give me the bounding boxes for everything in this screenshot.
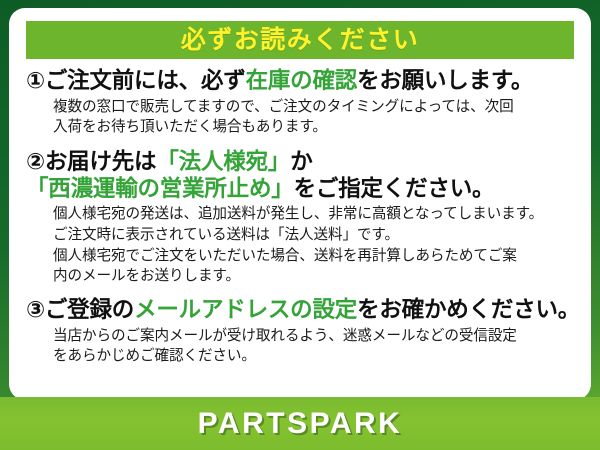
notice-frame: 必ずお読みください ①ご注文前には、必ず在庫の確認をお願いします。 複数の窓口で… [0, 0, 600, 450]
notice-item-list: ①ご注文前には、必ず在庫の確認をお願いします。 複数の窓口で販売してますので、ご… [26, 68, 574, 367]
notice-item-1: ①ご注文前には、必ず在庫の確認をお願いします。 複数の窓口で販売してますので、ご… [26, 68, 574, 138]
page-title: 必ずお読みください [181, 28, 420, 53]
item-2-body-line-4: 内のメールをお送りします。 [53, 266, 574, 287]
item-3-body-line-2: をあらかじめご確認ください。 [53, 346, 574, 367]
item-1-heading-highlight: 在庫の確認 [246, 68, 358, 93]
item-2-heading-highlight-2: 「西濃運輸の営業所止め」 [26, 176, 294, 201]
notice-item-2-heading: ②お届け先は「法人様宛」か「西濃運輸の営業所止め」をご指定ください。 [26, 149, 574, 202]
item-3-heading-text-after: をお確かめください。 [357, 297, 580, 322]
item-3-body-line-1: 当店からのご案内メールが受け取れるよう、迷惑メールなどの受信設定 [53, 326, 574, 347]
item-3-heading-text-before: ご登録の [45, 297, 134, 322]
notice-item-3: ③ご登録のメールアドレスの設定をお確かめください。 当店からのご案内メールが受け… [26, 297, 574, 367]
item-2-body-line-1: 個人様宅宛の発送は、追加送料が発生し、非常に高額となってしまいます。 [53, 204, 574, 225]
item-2-body-line-3: 個人様宅宛でご注文をいただいた場合、送料を再計算しあらためてご案 [53, 246, 574, 267]
item-2-heading-text-mid: か [290, 149, 312, 174]
item-1-heading-text-after: をお願いします。 [357, 68, 533, 93]
item-2-body-line-2: ご注文時に表示されている送料は「法人送料」です。 [53, 225, 574, 246]
notice-item-2: ②お届け先は「法人様宛」か「西濃運輸の営業所止め」をご指定ください。 個人様宅宛… [26, 149, 574, 287]
notice-panel: 必ずお読みください ①ご注文前には、必ず在庫の確認をお願いします。 複数の窓口で… [9, 8, 591, 400]
notice-item-3-heading: ③ご登録のメールアドレスの設定をお確かめください。 [26, 297, 574, 324]
item-marker-2: ② [26, 149, 45, 176]
notice-item-1-heading: ①ご注文前には、必ず在庫の確認をお願いします。 [26, 68, 574, 95]
item-1-body-line-2: 入荷をお待ち頂いただく場合もあります。 [53, 117, 574, 138]
item-3-heading-highlight: メールアドレスの設定 [134, 297, 357, 322]
item-marker-3: ③ [26, 297, 45, 324]
item-1-heading-text-before: ご注文前には、必ず [45, 68, 246, 93]
item-2-heading-text-after: をご指定ください。 [294, 176, 495, 201]
header-banner: 必ずお読みください [26, 21, 574, 59]
item-marker-1: ① [26, 68, 45, 95]
item-1-body-line-1: 複数の窓口で販売してますので、ご注文のタイミングによっては、次回 [53, 97, 574, 118]
notice-item-2-body: 個人様宅宛の発送は、追加送料が発生し、非常に高額となってしまいます。 ご注文時に… [26, 204, 574, 287]
footer-logo-bar: PARTSPARK [0, 397, 600, 450]
notice-item-1-body: 複数の窓口で販売してますので、ご注文のタイミングによっては、次回 入荷をお待ち頂… [26, 97, 574, 138]
item-2-heading-highlight-1: 「法人様宛」 [156, 149, 290, 174]
notice-item-3-body: 当店からのご案内メールが受け取れるよう、迷惑メールなどの受信設定 をあらかじめご… [26, 326, 574, 367]
brand-logo-text: PARTSPARK [198, 409, 403, 439]
item-2-heading-text-before: お届け先は [45, 149, 157, 174]
